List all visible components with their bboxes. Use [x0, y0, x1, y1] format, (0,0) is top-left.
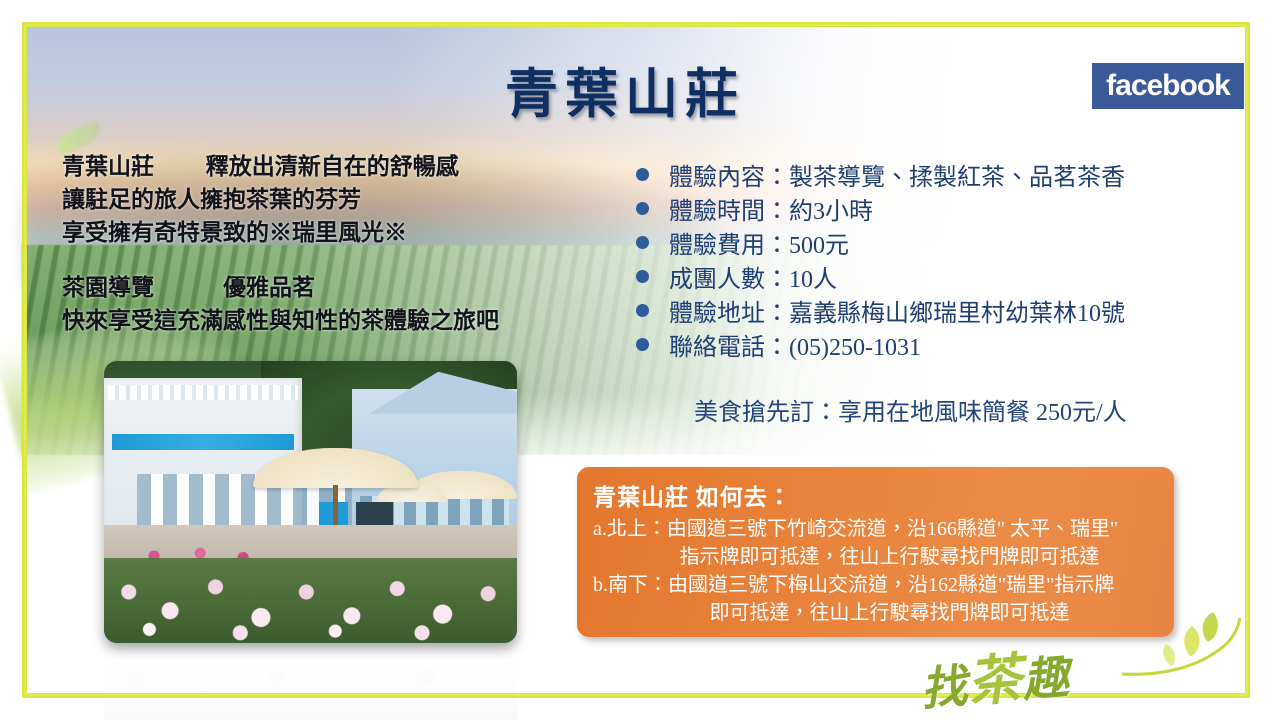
photo-flower-garden — [104, 558, 517, 643]
intro-spacer — [62, 249, 602, 271]
intro-line-1: 青葉山莊 釋放出清新自在的舒暢感 — [62, 150, 602, 183]
list-item-label: 體驗地址：嘉義縣梅山鄉瑞里村幼葉林10號 — [669, 299, 1125, 330]
list-item-label: 聯絡電話：(05)250-1031 — [669, 333, 921, 364]
brand-logo: 找茶趣 — [917, 630, 1072, 720]
intro-line-2: 讓駐足的旅人擁抱茶葉的芬芳 — [62, 183, 602, 216]
food-preorder-note: 美食搶先訂：享用在地風味簡餐 250元/人 — [694, 392, 1127, 427]
details-bullet-list: 體驗內容：製茶導覽、揉製紅茶、品茗茶香 體驗時間：約3小時 體驗費用：500元 … — [636, 163, 1125, 367]
intro-line-5: 快來享受這充滿感性與知性的茶體驗之旅吧 — [62, 304, 602, 337]
directions-line-b-cont: 即可抵達，往山上行駛尋找門牌即可抵達 — [593, 599, 1160, 627]
slide-canvas: 青葉山莊 facebook 青葉山莊 釋放出清新自在的舒暢感 讓駐足的旅人擁抱茶… — [0, 0, 1280, 720]
list-item-label: 體驗時間：約3小時 — [669, 197, 873, 228]
directions-line-b: b.南下：由國道三號下梅山交流道，沿162縣道"瑞里"指示牌 — [593, 571, 1160, 599]
facebook-logo-button[interactable]: facebook — [1092, 63, 1244, 109]
vine-leaf-icon — [1120, 596, 1250, 696]
directions-line-a: a.北上：由國道三號下竹崎交流道，沿166縣道" 太平、瑞里" — [593, 515, 1160, 543]
list-item: 聯絡電話：(05)250-1031 — [636, 333, 1125, 364]
list-item: 體驗費用：500元 — [636, 231, 1125, 262]
bullet-dot-icon — [636, 202, 649, 215]
bullet-dot-icon — [636, 270, 649, 283]
directions-title: 青葉山莊 如何去： — [593, 478, 1160, 512]
bullet-dot-icon — [636, 338, 649, 351]
list-item: 體驗時間：約3小時 — [636, 197, 1125, 228]
bullet-dot-icon — [636, 304, 649, 317]
brand-char-2: 茶 — [965, 646, 1025, 715]
list-item-label: 成團人數：10人 — [669, 265, 837, 296]
list-item: 體驗地址：嘉義縣梅山鄉瑞里村幼葉林10號 — [636, 299, 1125, 330]
list-item-label: 體驗費用：500元 — [669, 231, 849, 262]
brand-char-3: 趣 — [1020, 650, 1072, 708]
facebook-logo-label: facebook — [1106, 69, 1230, 103]
bullet-dot-icon — [636, 168, 649, 181]
intro-text-block: 青葉山莊 釋放出清新自在的舒暢感 讓駐足的旅人擁抱茶葉的芬芳 享受擁有奇特景致的… — [62, 150, 602, 337]
villa-photo — [104, 361, 517, 643]
intro-line-4: 茶園導覽 優雅品茗 — [62, 271, 602, 304]
page-title: 青葉山莊 — [505, 52, 745, 128]
list-item: 成團人數：10人 — [636, 265, 1125, 296]
intro-line-3: 享受擁有奇特景致的※瑞里風光※ — [62, 216, 602, 249]
directions-line-a-cont: 指示牌即可抵達，往山上行駛尋找門牌即可抵達 — [593, 543, 1160, 571]
brand-char-1: 找 — [919, 658, 971, 716]
bullet-dot-icon — [636, 236, 649, 249]
list-item: 體驗內容：製茶導覽、揉製紅茶、品茗茶香 — [636, 163, 1125, 194]
photo-reflection — [104, 648, 517, 720]
directions-box: 青葉山莊 如何去： a.北上：由國道三號下竹崎交流道，沿166縣道" 太平、瑞里… — [577, 467, 1174, 637]
villa-photo-frame — [104, 361, 517, 643]
list-item-label: 體驗內容：製茶導覽、揉製紅茶、品茗茶香 — [669, 163, 1125, 194]
